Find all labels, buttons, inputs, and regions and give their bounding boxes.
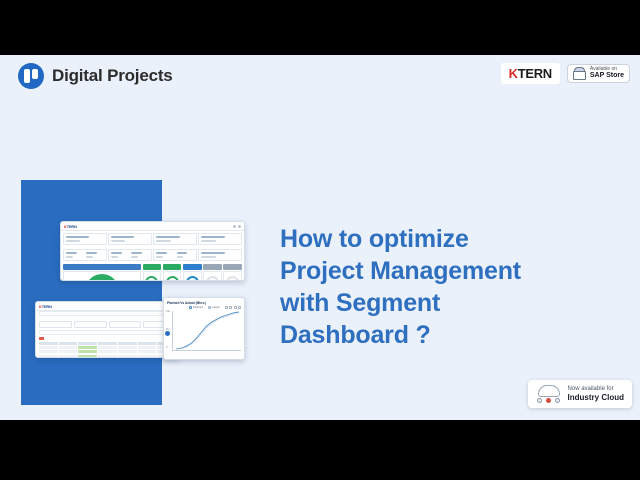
ktern-logo: KTERN xyxy=(501,63,560,84)
blue-accent-block xyxy=(21,180,162,405)
chart-toolbar[interactable] xyxy=(225,306,242,309)
table-alert-marker xyxy=(39,337,44,340)
kpi-card xyxy=(198,249,242,261)
sap-store-bag-icon xyxy=(573,67,586,80)
table-section-label xyxy=(39,330,176,335)
letterbox-top xyxy=(0,0,640,55)
s-curve-series xyxy=(173,311,241,350)
legend-item-actual: Actual xyxy=(208,306,220,309)
segment-ring-planning xyxy=(163,271,182,281)
ktern-logo-text: TERN xyxy=(518,66,552,81)
tab-deploy[interactable] xyxy=(223,264,242,270)
sap-store-badge[interactable]: Available on SAP Store xyxy=(567,64,630,83)
program-performance-gauge xyxy=(63,271,141,281)
slide-stage: Digital Projects KTERN Available on SAP … xyxy=(0,0,640,480)
brand-title: Digital Projects xyxy=(52,66,173,86)
headline-line-4: Dashboard ? xyxy=(280,319,610,351)
table-filter-row xyxy=(36,318,179,330)
brand: Digital Projects xyxy=(18,63,173,89)
kpi-card xyxy=(63,233,107,245)
segment-ring-deploy xyxy=(223,271,242,281)
filter-consumption-detail[interactable] xyxy=(74,321,107,328)
tab-analyze[interactable] xyxy=(203,264,222,270)
panel-ktern-logo: KTERN xyxy=(64,224,77,229)
headline-line-3: with Segment xyxy=(280,287,610,319)
page-title: How to optimize Project Management with … xyxy=(280,223,610,351)
panel-controls xyxy=(233,225,241,228)
filter-estimation-detail[interactable] xyxy=(109,321,142,328)
panel-titlebar: KTERN xyxy=(36,302,179,311)
kpi-card-row-1 xyxy=(61,231,244,247)
y-tick-label: 100 xyxy=(166,310,170,313)
table-body xyxy=(39,342,176,359)
kpi-card-row-2 xyxy=(61,247,244,263)
sap-store-line2: SAP Store xyxy=(590,72,624,79)
table-breadcrumb xyxy=(39,311,176,316)
slide-canvas: Digital Projects KTERN Available on SAP … xyxy=(0,55,640,420)
industry-badge-line1: Now available for xyxy=(568,386,624,393)
industry-badge-line2: Industry Cloud xyxy=(568,393,624,402)
planned-vs-actual-chart-panel: Planned Vs Actual (Mhrs.) Planned Actual… xyxy=(163,297,245,360)
table-row[interactable] xyxy=(39,350,176,353)
letterbox-bottom xyxy=(0,420,640,480)
kpi-card xyxy=(153,233,197,245)
tab-solutioning[interactable] xyxy=(143,264,162,270)
ktern-logo-k: K xyxy=(509,66,518,81)
table-row[interactable] xyxy=(39,355,176,358)
gauge-row xyxy=(61,271,244,281)
chart-prev-button[interactable] xyxy=(164,330,171,337)
table-header-row xyxy=(39,342,176,345)
table-row[interactable] xyxy=(39,346,176,349)
task-table-screenshot-panel: KTERN xyxy=(35,301,180,358)
industry-cloud-icon xyxy=(536,384,562,404)
legend-item-planned: Planned xyxy=(189,306,203,309)
program-performance-header xyxy=(63,264,141,270)
kpi-card xyxy=(108,233,152,245)
segment-ring-execution xyxy=(183,271,202,281)
kpi-card xyxy=(108,249,152,261)
segment-tab-bar xyxy=(63,264,242,270)
digital-projects-logo-icon xyxy=(18,63,44,89)
panel-ktern-logo: KTERN xyxy=(39,304,52,309)
chart-plot-area: 100 50 0 xyxy=(172,311,241,351)
tab-planning[interactable] xyxy=(163,264,182,270)
segment-ring-analyze xyxy=(203,271,222,281)
headline-line-1: How to optimize xyxy=(280,223,610,255)
segment-ring-solutioning xyxy=(143,271,162,281)
tab-execution[interactable] xyxy=(183,264,202,270)
kpi-card xyxy=(198,233,242,245)
y-tick-label: 0 xyxy=(166,346,167,349)
filter-task-detail[interactable] xyxy=(39,321,72,328)
industry-cloud-badge: Now available for Industry Cloud xyxy=(528,380,632,408)
kpi-card xyxy=(153,249,197,261)
kpi-card xyxy=(63,249,107,261)
headline-line-2: Project Management xyxy=(280,255,610,287)
panel-titlebar: KTERN xyxy=(61,222,244,231)
header-right: KTERN Available on SAP Store xyxy=(501,63,630,84)
dashboard-screenshot-panel: KTERN xyxy=(60,221,245,281)
